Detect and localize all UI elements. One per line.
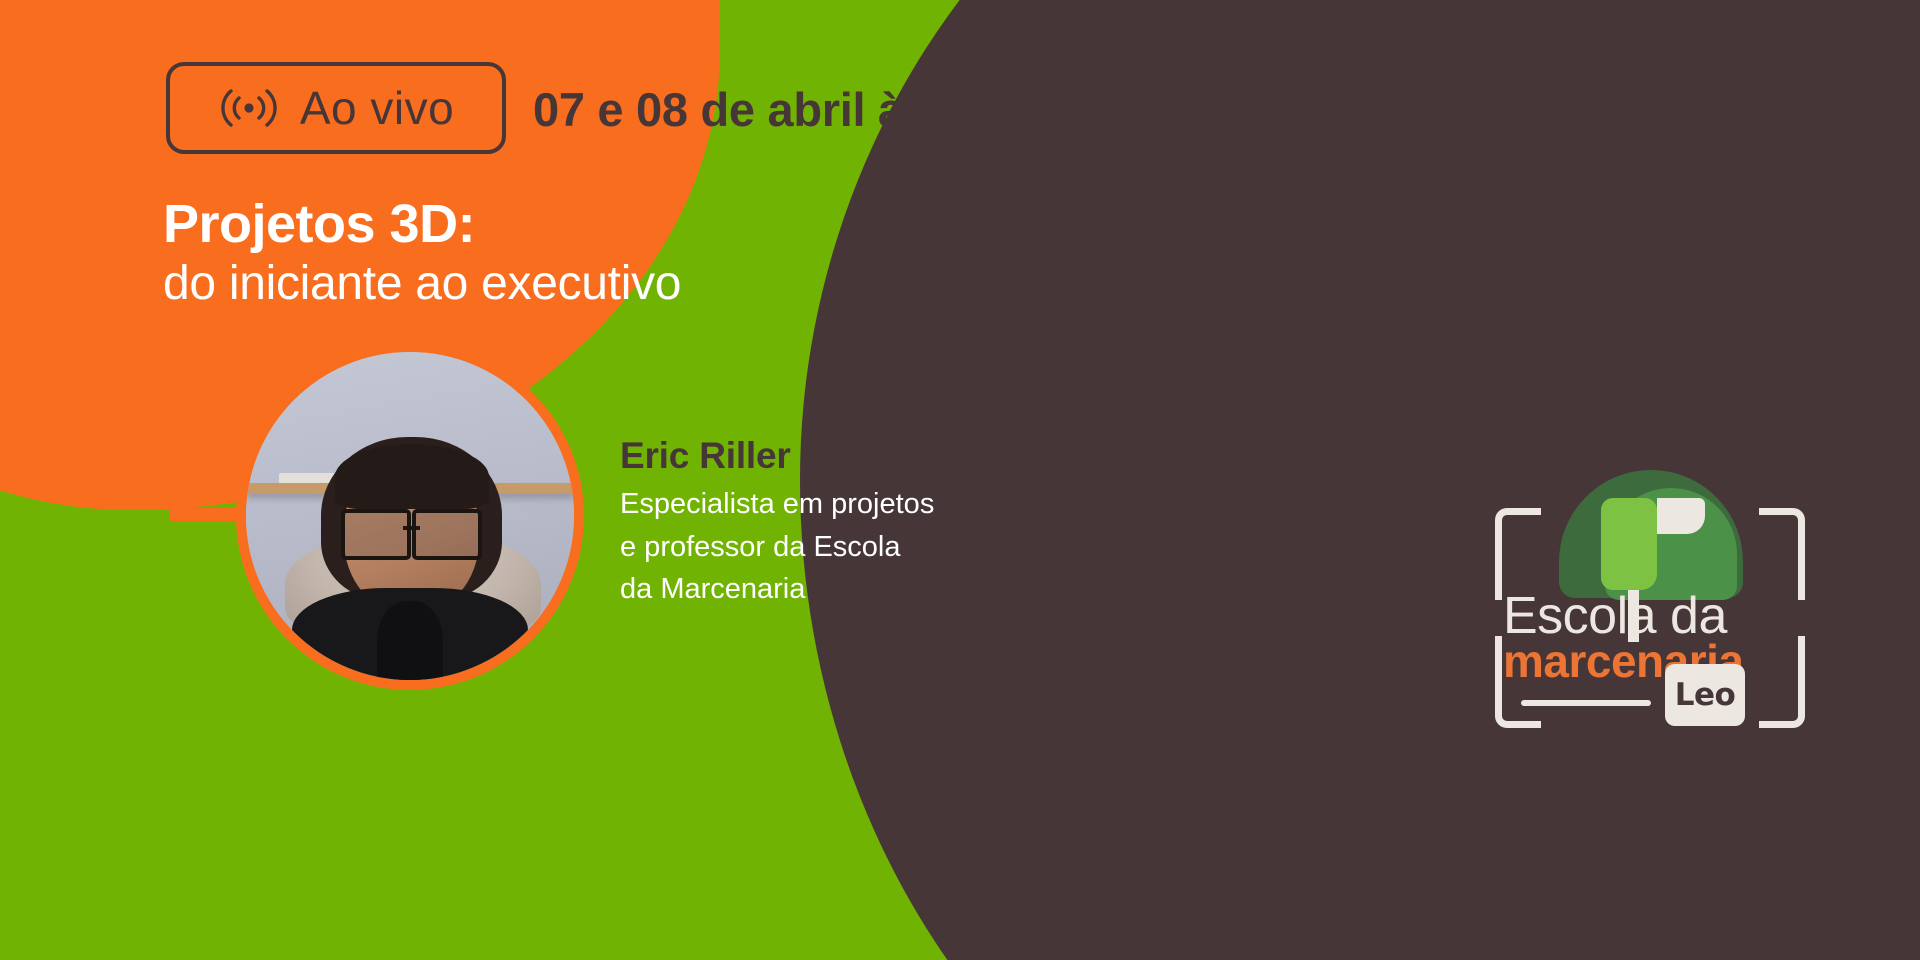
- speaker-bio: Especialista em projetos e professor da …: [620, 483, 934, 611]
- headline-sub: do iniciante ao executivo: [163, 259, 681, 309]
- speaker-name: Eric Riller: [620, 435, 791, 477]
- bracket-top-right-icon: [1759, 508, 1805, 600]
- logo-leo-label: Leo: [1675, 677, 1736, 713]
- logo-text-marcenaria: marcenaria: [1503, 638, 1797, 684]
- speaker-bio-line-2: e professor da Escola: [620, 526, 934, 569]
- speaker-bio-line-1: Especialista em projetos: [620, 483, 934, 526]
- event-date: 07 e 08 de abril às 19h: [533, 82, 1023, 137]
- headline: Projetos 3D: do iniciante ao executivo: [163, 196, 681, 309]
- speaker-avatar-ring: [236, 342, 584, 690]
- live-badge[interactable]: Ao vivo: [166, 62, 506, 154]
- live-badge-label: Ao vivo: [300, 85, 454, 131]
- broadcast-icon: [218, 85, 280, 131]
- speaker-bio-line-3: da Marcenaria: [620, 568, 934, 611]
- avatar: [246, 352, 574, 680]
- headline-main: Projetos 3D:: [163, 196, 681, 252]
- logo-divider: [1521, 700, 1651, 706]
- logo-leo-badge: Leo: [1665, 664, 1745, 726]
- promo-banner: Ao vivo 07 e 08 de abril às 19h Projetos…: [0, 0, 1920, 960]
- tree-mark-icon: [1553, 470, 1743, 602]
- brand-logo: Escola da marcenaria Leo: [1495, 468, 1805, 728]
